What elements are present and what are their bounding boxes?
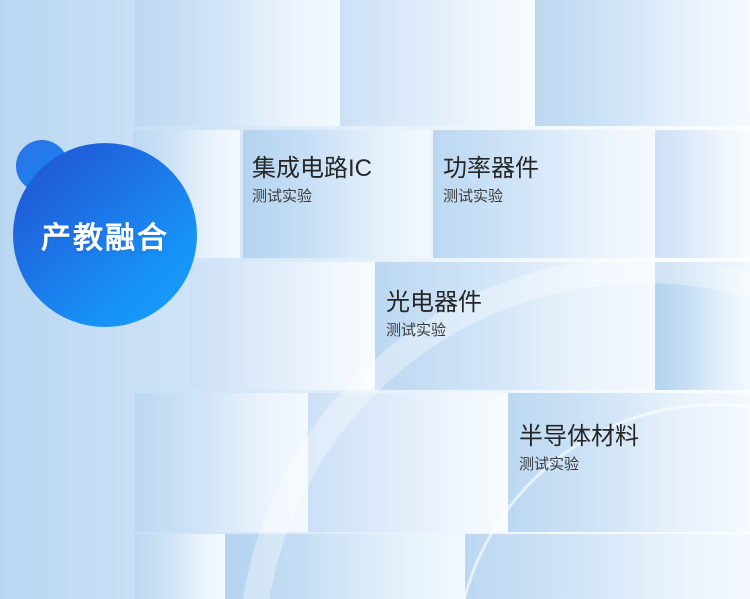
card-subtitle: 测试实验 — [386, 320, 482, 342]
card-subtitle: 测试实验 — [443, 186, 539, 208]
card-subtitle: 测试实验 — [519, 454, 639, 476]
mosaic-tile — [135, 534, 225, 599]
card-power-device[interactable]: 功率器件 测试实验 — [443, 154, 539, 208]
card-title: 半导体材料 — [519, 422, 639, 452]
card-title: 功率器件 — [443, 154, 539, 184]
mosaic-tile — [135, 393, 308, 532]
mosaic-tile — [308, 393, 508, 532]
mosaic-tile — [535, 0, 750, 126]
mosaic-row-1 — [0, 0, 750, 126]
mosaic-tile — [340, 0, 535, 126]
mosaic-tile — [655, 262, 750, 390]
mosaic-tile — [465, 534, 750, 599]
mosaic-tile — [135, 0, 340, 126]
mosaic-row-5 — [0, 534, 750, 599]
mosaic-tile — [225, 534, 465, 599]
badge-label: 产教融合 — [13, 143, 197, 327]
card-optoelectronic-device[interactable]: 光电器件 测试实验 — [386, 288, 482, 342]
promo-banner: 产教融合 集成电路IC 测试实验 功率器件 测试实验 光电器件 测试实验 半导体… — [0, 0, 750, 599]
badge: 产教融合 — [0, 130, 210, 340]
card-subtitle: 测试实验 — [252, 186, 372, 208]
card-title: 光电器件 — [386, 288, 482, 318]
card-integrated-circuit-ic[interactable]: 集成电路IC 测试实验 — [252, 154, 372, 208]
card-semiconductor-material[interactable]: 半导体材料 测试实验 — [519, 422, 639, 476]
card-title: 集成电路IC — [252, 154, 372, 184]
mosaic-tile — [190, 262, 375, 390]
mosaic-tile — [655, 130, 750, 258]
